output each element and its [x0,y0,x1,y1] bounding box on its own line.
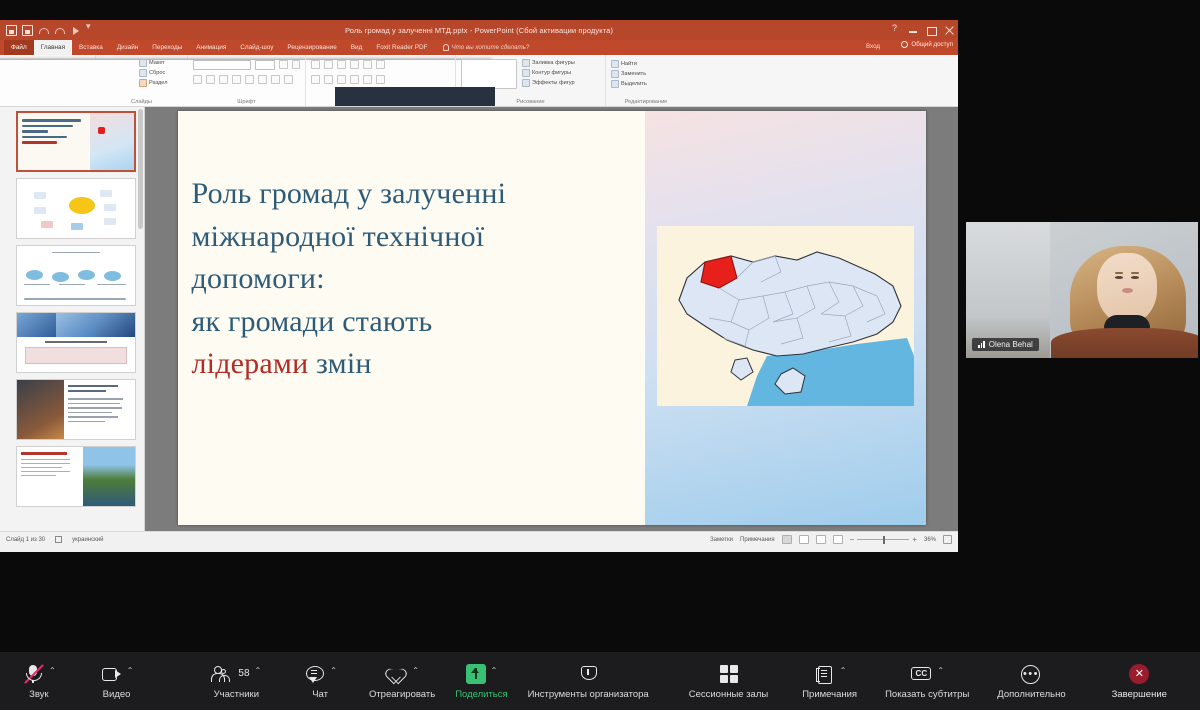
customize-qat-icon[interactable] [86,25,97,36]
powerpoint-status-bar: Слайд 1 из 30 украинский Заметки Примеча… [0,531,958,547]
shape-outline-label: Контур фигуры [532,70,571,76]
ellipsis-circle-icon[interactable]: ••• [1020,664,1042,684]
breakout-label: Сессионные залы [689,689,769,700]
captions-label: Показать субтитры [885,689,969,700]
ribbon-group-slides: Создать слайд Макет Сброс [96,55,188,106]
tab-home[interactable]: Главная [34,40,72,55]
italic-icon[interactable] [206,75,215,84]
font-size-input[interactable] [255,60,276,70]
increase-indent-icon[interactable] [350,60,359,69]
fit-to-window-icon[interactable] [943,535,952,544]
slide-thumbnail-2[interactable]: 2 [16,178,136,239]
tell-me-placeholder: Что вы хотите сделать? [452,44,530,51]
microphone-muted-icon[interactable] [22,664,44,684]
tab-insert[interactable]: Вставка [72,40,110,55]
change-case-icon[interactable] [271,75,280,84]
slide-thumbnail-6[interactable]: 6 [16,446,136,507]
map-of-ukraine-image [657,226,914,406]
share-button[interactable]: Общий доступ [901,41,953,48]
slide-counter: Слайд 1 из 30 [6,537,45,543]
powerpoint-window: Роль громад у залученні МТД.pptx - Power… [0,20,958,552]
decrease-font-size-icon[interactable] [292,60,300,69]
participant-video-tile[interactable]: Olena Behal [966,222,1198,358]
participant-name-badge: Olena Behal [972,338,1039,351]
participants-button[interactable]: 58 ⌃ Участники [211,652,261,710]
font-color-icon[interactable] [284,75,293,84]
underline-icon[interactable] [219,75,228,84]
text-direction-icon[interactable] [376,60,385,69]
more-button[interactable]: ••• Дополнительно [997,652,1065,710]
bold-icon[interactable] [193,75,202,84]
end-call-icon[interactable]: ✕ [1129,664,1149,684]
heart-icon[interactable] [385,664,407,684]
react-button[interactable]: ⌃ Отреагировать [369,652,435,710]
host-tools-label: Инструменты организатора [528,689,649,700]
participants-count: 58 [238,668,249,679]
align-left-icon[interactable] [311,75,320,84]
slide-thumbnail-pane[interactable]: 1 2 [0,107,145,531]
zoom-control-toolbar: ⌃ Звук ⌃ Видео 58 ⌃ Участники [0,652,1200,710]
notes-caret-icon[interactable]: ⌃ [840,666,847,675]
select-label: Выделить [621,81,647,87]
closed-caption-icon[interactable]: CC [910,664,932,684]
end-label: Завершение [1112,689,1167,700]
end-meeting-button[interactable]: ✕ Завершение [1112,652,1167,710]
layout-label: Макет [149,60,165,66]
ukraine-map-svg [657,226,914,406]
captions-caret-icon[interactable]: ⌃ [937,666,944,675]
zoom-meeting-screen: Роль громад у залученні МТД.pptx - Power… [0,0,1200,710]
reset-button[interactable]: Сброс [139,69,168,77]
powerpoint-title-bar: Роль громад у залученні МТД.pptx - Power… [0,20,958,40]
current-slide[interactable]: Роль громад у залученні міжнародної техн… [178,111,926,525]
ribbon-tabs[interactable]: Файл Главная Вставка Дизайн Переходы Ани… [0,40,958,55]
section-icon [139,79,147,87]
find-label: Найти [621,61,637,67]
slide-title-line-3: допомоги: [192,258,645,301]
shape-effects-icon [522,79,530,87]
tab-slideshow[interactable]: Слайд-шоу [233,40,280,55]
shield-icon[interactable] [577,664,599,684]
slide-title-accent-word: лідерами [192,347,309,380]
notes-button[interactable]: Заметки [710,537,733,543]
shapes-gallery[interactable] [461,59,517,89]
face [1097,253,1157,324]
host-tools-button[interactable]: Инструменты организатора [528,652,649,710]
quick-access-toolbar[interactable] [0,25,97,36]
share-caret-icon[interactable]: ⌃ [491,666,498,675]
tell-me-search[interactable]: Что вы хотите сделать? [435,40,530,55]
participants-label: Участники [214,689,259,700]
shape-outline-button[interactable]: Контур фигуры [522,69,575,77]
replace-icon [611,70,619,78]
chat-bubble-icon[interactable] [303,664,325,684]
columns-icon[interactable] [363,75,372,84]
more-label: Дополнительно [997,689,1065,700]
slide-thumbnail-1[interactable]: 1 [16,111,136,172]
slide-image-placeholder[interactable] [645,111,926,525]
audio-button[interactable]: ⌃ Звук [22,652,56,710]
slideshow-view-button[interactable] [833,535,843,544]
thumbnail-scrollbar[interactable] [138,109,143,229]
maximize-icon[interactable] [927,26,936,35]
grid-squares-icon[interactable] [717,664,739,684]
help-icon[interactable] [891,26,900,35]
save-as-icon[interactable] [22,25,33,36]
slides-group-label: Слайды [96,99,187,105]
section-label: Раздел [149,80,168,86]
convert-smartart-icon[interactable] [376,75,385,84]
replace-label: Заменить [621,71,646,77]
start-slideshow-icon[interactable] [70,25,81,36]
tab-view[interactable]: Вид [344,40,370,55]
language-label[interactable]: украинский [72,537,103,543]
audio-label: Звук [29,689,48,700]
layout-icon [139,59,147,67]
ribbon-obscured-overlay [335,87,495,107]
reset-label: Сброс [149,70,165,76]
shadow-icon[interactable] [232,75,241,84]
jacket [1051,328,1198,358]
character-spacing-icon[interactable] [258,75,267,84]
tab-foxit-reader-pdf[interactable]: Foxit Reader PDF [369,40,434,55]
spellcheck-icon[interactable] [55,536,62,543]
section-button[interactable]: Раздел [139,79,168,87]
participant-figure [1068,244,1189,358]
increase-font-size-icon[interactable] [279,60,287,69]
font-group-label: Шрифт [188,99,305,105]
comments-button[interactable]: Примечания [740,537,775,543]
slide-canvas-area[interactable]: Роль громад у залученні міжнародної техн… [145,107,958,531]
share-screen-button[interactable]: ⌃ Поделиться [455,652,507,710]
font-name-input[interactable] [193,60,251,70]
ribbon-group-font: Шрифт [188,55,306,106]
strikethrough-icon[interactable] [245,75,254,84]
line-spacing-icon[interactable] [363,60,372,69]
undo-icon[interactable] [38,25,49,36]
chat-caret-icon[interactable]: ⌃ [330,666,337,675]
share-label: Общий доступ [911,41,953,48]
react-caret-icon[interactable]: ⌃ [412,666,419,675]
slide-title-line-2: міжнародної технічної [192,216,645,259]
tab-animations[interactable]: Анимация [189,40,233,55]
signin-label[interactable]: Вход [866,43,880,50]
notes-icon[interactable] [813,664,835,684]
chat-label: Чат [312,689,328,700]
slide-title-line-1: Роль громад у залученні [192,173,645,216]
participant-name: Olena Behal [989,340,1033,349]
ribbon: Вставить Вырезать Копировать [0,55,958,107]
breakout-rooms-button[interactable]: Сессионные залы [689,652,769,710]
video-button[interactable]: ⌃ Видео [100,652,134,710]
close-icon[interactable] [945,26,954,35]
tab-file[interactable]: Файл [4,40,34,55]
share-icon [901,41,908,48]
editing-group-label: Редактирование [606,99,686,105]
align-right-icon[interactable] [337,75,346,84]
align-center-icon[interactable] [324,75,333,84]
numbering-icon[interactable] [324,60,333,69]
zoom-slider[interactable]: − + [850,535,917,544]
tab-design[interactable]: Дизайн [110,40,145,55]
decrease-indent-icon[interactable] [337,60,346,69]
notes-label: Примечания [802,689,857,700]
shape-effects-label: Эффекты фигур [532,80,575,86]
replace-button[interactable]: Заменить [611,70,681,78]
shape-effects-button[interactable]: Эффекты фигур [522,79,575,87]
find-icon [611,60,619,68]
share-screen-icon[interactable] [466,664,486,684]
camera-icon[interactable] [100,664,122,684]
share-label: Поделиться [455,689,507,700]
zoom-level-label[interactable]: 36% [924,537,936,543]
reset-icon [139,69,147,77]
video-label: Видео [103,689,131,700]
document-title: Роль громад у залученні МТД.pptx - Power… [0,26,958,35]
layout-button[interactable]: Макет [139,59,168,67]
powerpoint-body: 1 2 [0,107,958,531]
zoom-slider-thumb[interactable] [883,536,885,544]
chat-button[interactable]: ⌃ Чат [303,652,337,710]
reading-view-button[interactable] [816,535,826,544]
slide-title-line-5-rest: змін [308,347,371,380]
participants-caret-icon[interactable]: ⌃ [255,666,262,675]
tab-review[interactable]: Рецензирование [280,40,343,55]
react-label: Отреагировать [369,689,435,700]
signal-bars-icon [978,341,985,348]
slide-thumbnail-3[interactable]: 3 [16,245,136,306]
find-button[interactable]: Найти [611,60,681,68]
select-icon [611,80,619,88]
audio-options-caret-icon[interactable]: ⌃ [49,666,56,675]
redo-icon[interactable] [54,25,65,36]
slide-thumbnail-4[interactable]: 4 [16,312,136,373]
lightbulb-icon [443,44,449,51]
bullets-icon[interactable] [311,60,320,69]
notes-button[interactable]: ⌃ Примечания [802,652,857,710]
captions-button[interactable]: CC ⌃ Показать субтитры [885,652,969,710]
shape-fill-icon [522,59,530,67]
window-controls[interactable] [891,20,954,40]
select-button[interactable]: Выделить [611,80,681,88]
status-bar-right: Заметки Примечания − + 36% [710,535,952,544]
ribbon-group-editing: Найти Заменить Выделить Редактирование [606,55,686,106]
video-options-caret-icon[interactable]: ⌃ [127,666,134,675]
shape-outline-icon [522,69,530,77]
shape-fill-button[interactable]: Заливка фигуры [522,59,575,67]
slide-thumbnail-5[interactable]: 5 [16,379,136,440]
participants-icon[interactable] [211,664,233,684]
slide-title-placeholder[interactable]: Роль громад у залученні міжнародної техн… [178,111,645,525]
slide-title-line-4: як громади стають [192,301,645,344]
save-icon[interactable] [6,25,17,36]
justify-icon[interactable] [350,75,359,84]
normal-view-button[interactable] [782,535,792,544]
shape-fill-label: Заливка фигуры [532,60,575,66]
tab-transitions[interactable]: Переходы [145,40,189,55]
minimize-icon[interactable] [909,26,918,35]
slide-sorter-view-button[interactable] [799,535,809,544]
